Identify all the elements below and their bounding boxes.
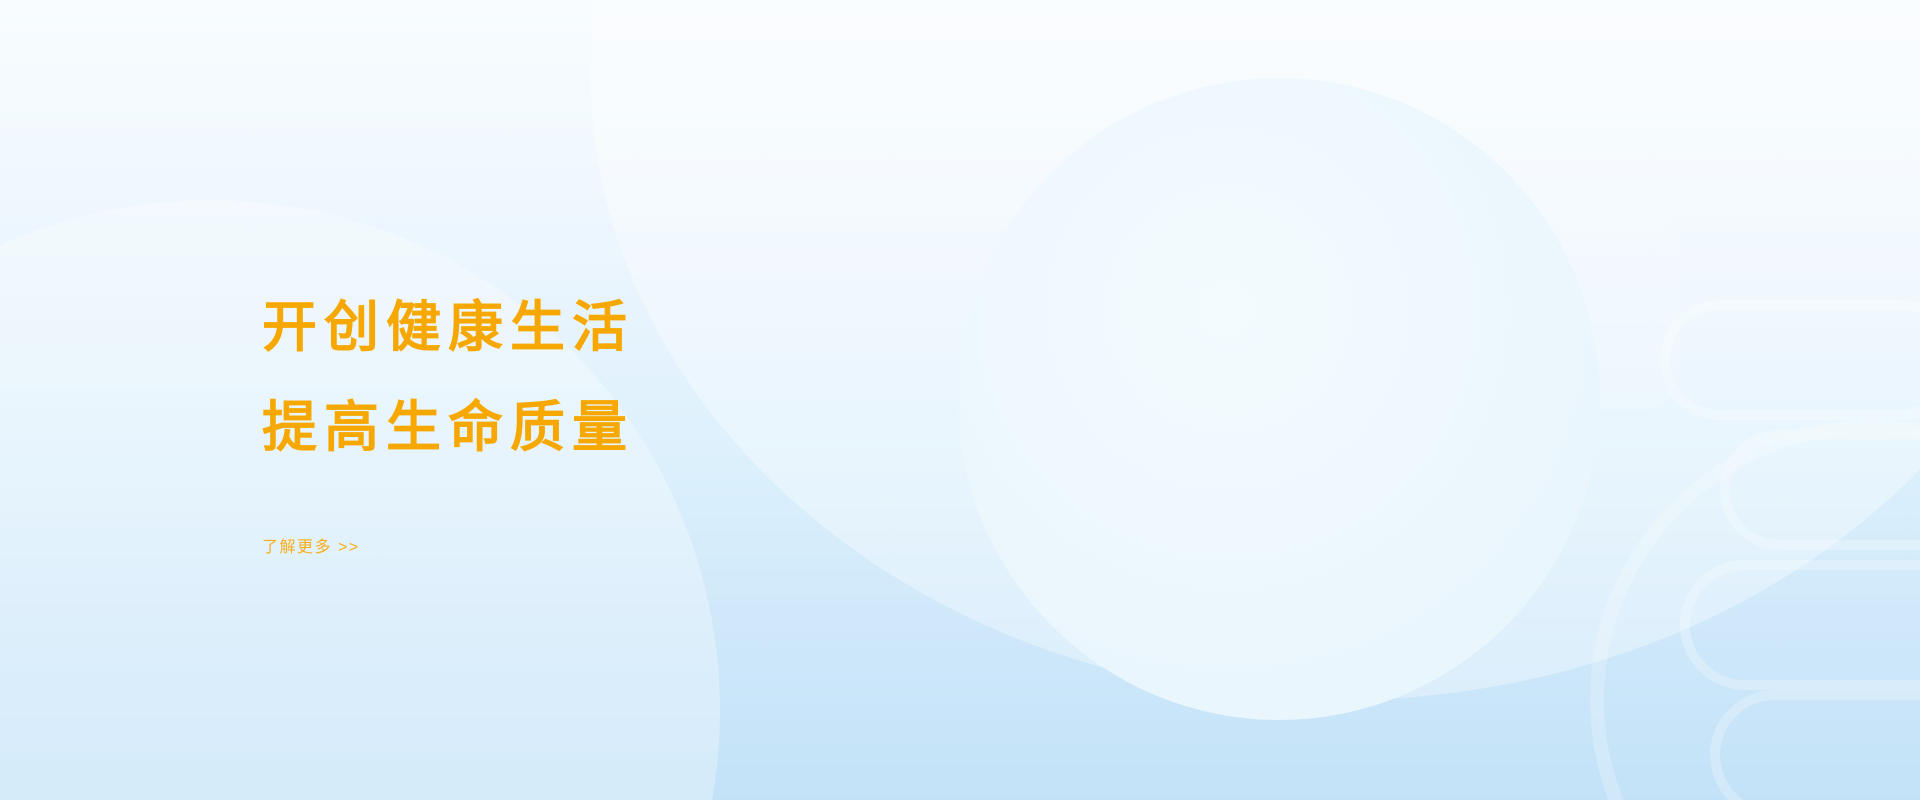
illustration-svg — [938, 60, 1598, 740]
page-title-line-1: 开创健康生活 — [262, 300, 882, 355]
learn-more-link[interactable]: 了解更多 >> — [262, 533, 360, 557]
background-watermark-coil-1 — [1660, 300, 1920, 420]
page-title-line-2: 提高生命质量 — [262, 400, 882, 455]
hero-text-block: 开创健康生活 提高生命质量 了解更多 >> — [262, 300, 882, 557]
digestive-system-illustration — [938, 60, 1598, 740]
